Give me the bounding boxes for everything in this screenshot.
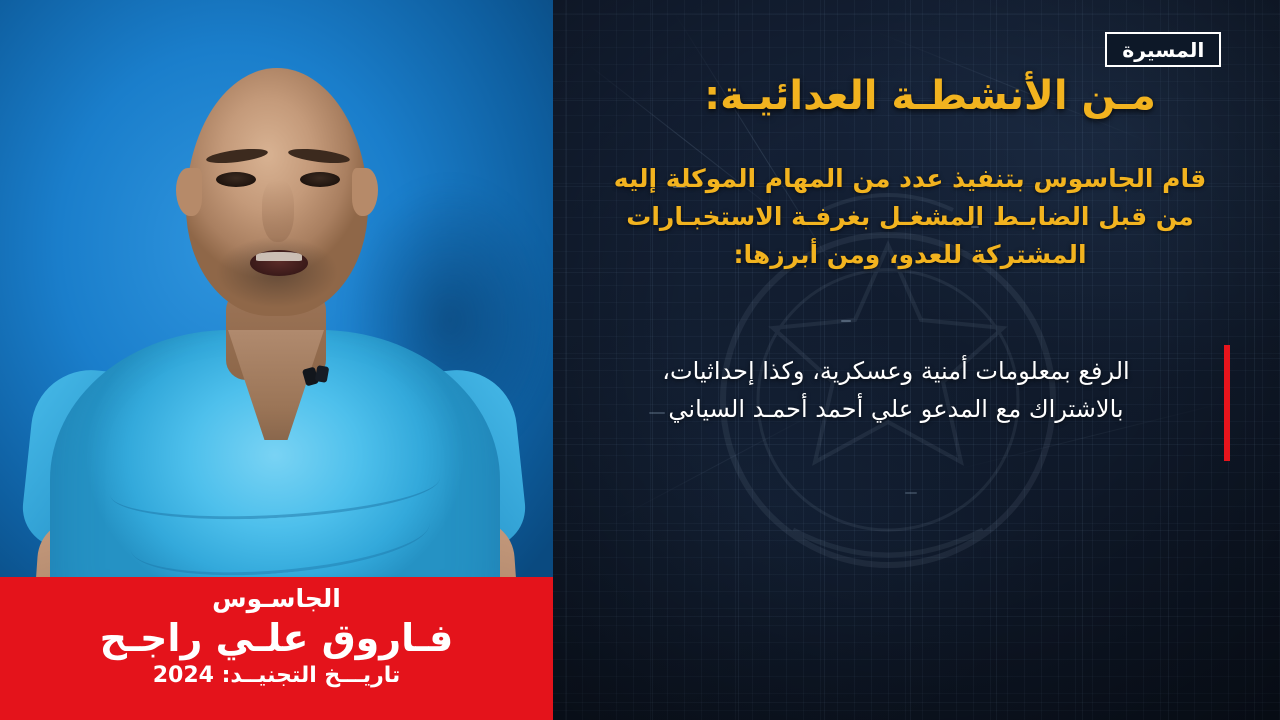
recruitment-date: تاريـــخ التجنيــد: 2024 — [0, 663, 553, 689]
lapel-microphone-icon — [304, 364, 330, 388]
quote-block: الرفع بمعلومات أمنية وعسكرية، وكذا إحداث… — [590, 345, 1230, 461]
broadcast-graphic: المسيرة مـن الأنشطـة العدائيـة: قام الجا… — [0, 0, 1280, 720]
beard-shadow — [196, 228, 358, 326]
quote-line: الرفع بمعلومات أمنية وعسكرية، وكذا إحداث… — [590, 353, 1202, 391]
teeth — [256, 252, 302, 261]
ear-right — [352, 168, 378, 216]
eye-right — [300, 172, 340, 187]
red-accent-bar — [1224, 345, 1230, 461]
subject-role: الجاسـوس — [0, 585, 553, 614]
lower-third-banner: الجاسـوس فـاروق علـي راجـح تاريـــخ التج… — [0, 577, 553, 720]
nose — [262, 180, 294, 242]
body-line: قام الجاسوس بتنفيذ عدد من المهام الموكلة… — [590, 160, 1230, 198]
eye-left — [216, 172, 256, 187]
quote-line: بالاشتراك مع المدعو علي أحمد أحمـد السيا… — [590, 391, 1202, 429]
channel-logo[interactable]: المسيرة — [1105, 32, 1221, 67]
channel-logo-text: المسيرة — [1122, 40, 1204, 60]
video-panel: الجاسـوس فـاروق علـي راجـح تاريـــخ التج… — [0, 0, 553, 720]
body-line: المشتركة للعدو، ومن أبرزها: — [590, 236, 1230, 274]
ear-left — [176, 168, 202, 216]
body-line: من قبل الضابـط المشغـل بغرفـة الاستخبـار… — [590, 198, 1230, 236]
headline: مـن الأنشطـة العدائيـة: — [630, 72, 1230, 121]
body-paragraph: قام الجاسوس بتنفيذ عدد من المهام الموكلة… — [590, 160, 1230, 274]
quote-text: الرفع بمعلومات أمنية وعسكرية، وكذا إحداث… — [590, 345, 1202, 429]
subject-name: فـاروق علـي راجـح — [0, 616, 553, 661]
